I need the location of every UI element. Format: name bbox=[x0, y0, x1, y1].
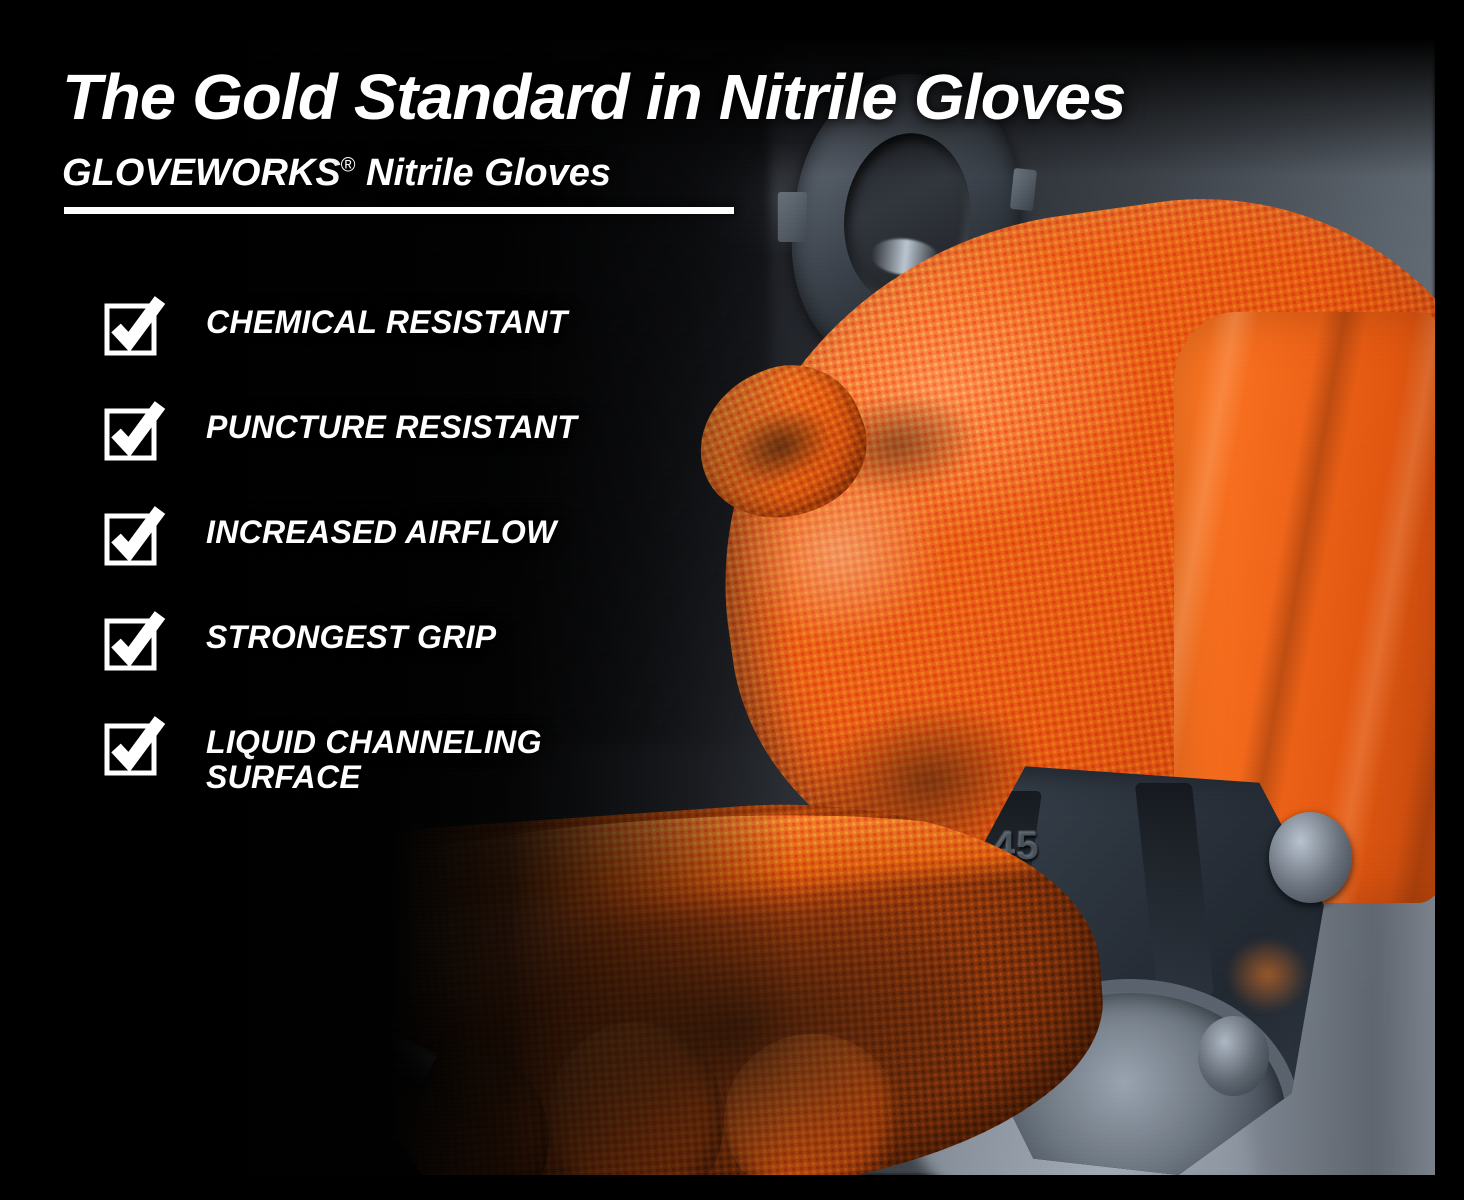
feature-label: PUNCTURE RESISTANT bbox=[206, 403, 577, 445]
frame-right-border bbox=[1435, 0, 1464, 1200]
feature-label: CHEMICAL RESISTANT bbox=[206, 298, 568, 340]
feature-label: LIQUID CHANNELING SURFACE bbox=[206, 718, 542, 794]
list-item: STRONGEST GRIP bbox=[104, 613, 724, 718]
frame-bottom-border bbox=[0, 1175, 1464, 1200]
checkbox-checked-icon bbox=[104, 403, 162, 461]
page-title: The Gold Standard in Nitrile Gloves bbox=[62, 60, 1125, 134]
checkbox-checked-icon bbox=[104, 508, 162, 566]
checkbox-checked-icon bbox=[104, 613, 162, 671]
feature-label: INCREASED AIRFLOW bbox=[206, 508, 557, 550]
rod-rust-patch bbox=[1227, 938, 1308, 1012]
product-subtitle: GLOVEWORKS® Nitrile Gloves bbox=[62, 152, 611, 195]
product-subtitle-rest: Nitrile Gloves bbox=[355, 152, 611, 194]
checkbox-checked-icon bbox=[104, 718, 162, 776]
list-item: INCREASED AIRFLOW bbox=[104, 508, 724, 613]
brand-name: GLOVEWORKS bbox=[62, 152, 341, 194]
feature-list: CHEMICAL RESISTANT PUNCTURE RESISTANT IN… bbox=[104, 298, 724, 794]
title-underline-rule bbox=[64, 207, 734, 214]
rod-web bbox=[1135, 783, 1214, 995]
feature-label: STRONGEST GRIP bbox=[206, 613, 496, 655]
rod-bolt-head bbox=[1198, 1016, 1269, 1095]
checkbox-checked-icon bbox=[104, 298, 162, 356]
rod-bolt-head bbox=[1269, 812, 1352, 903]
list-item: PUNCTURE RESISTANT bbox=[104, 403, 724, 508]
registered-trademark-icon: ® bbox=[341, 154, 356, 176]
list-item: LIQUID CHANNELING SURFACE bbox=[104, 718, 724, 794]
product-feature-banner: 45 The Gold Standard in Nitrile Gloves G… bbox=[0, 0, 1464, 1200]
list-item: CHEMICAL RESISTANT bbox=[104, 298, 724, 403]
